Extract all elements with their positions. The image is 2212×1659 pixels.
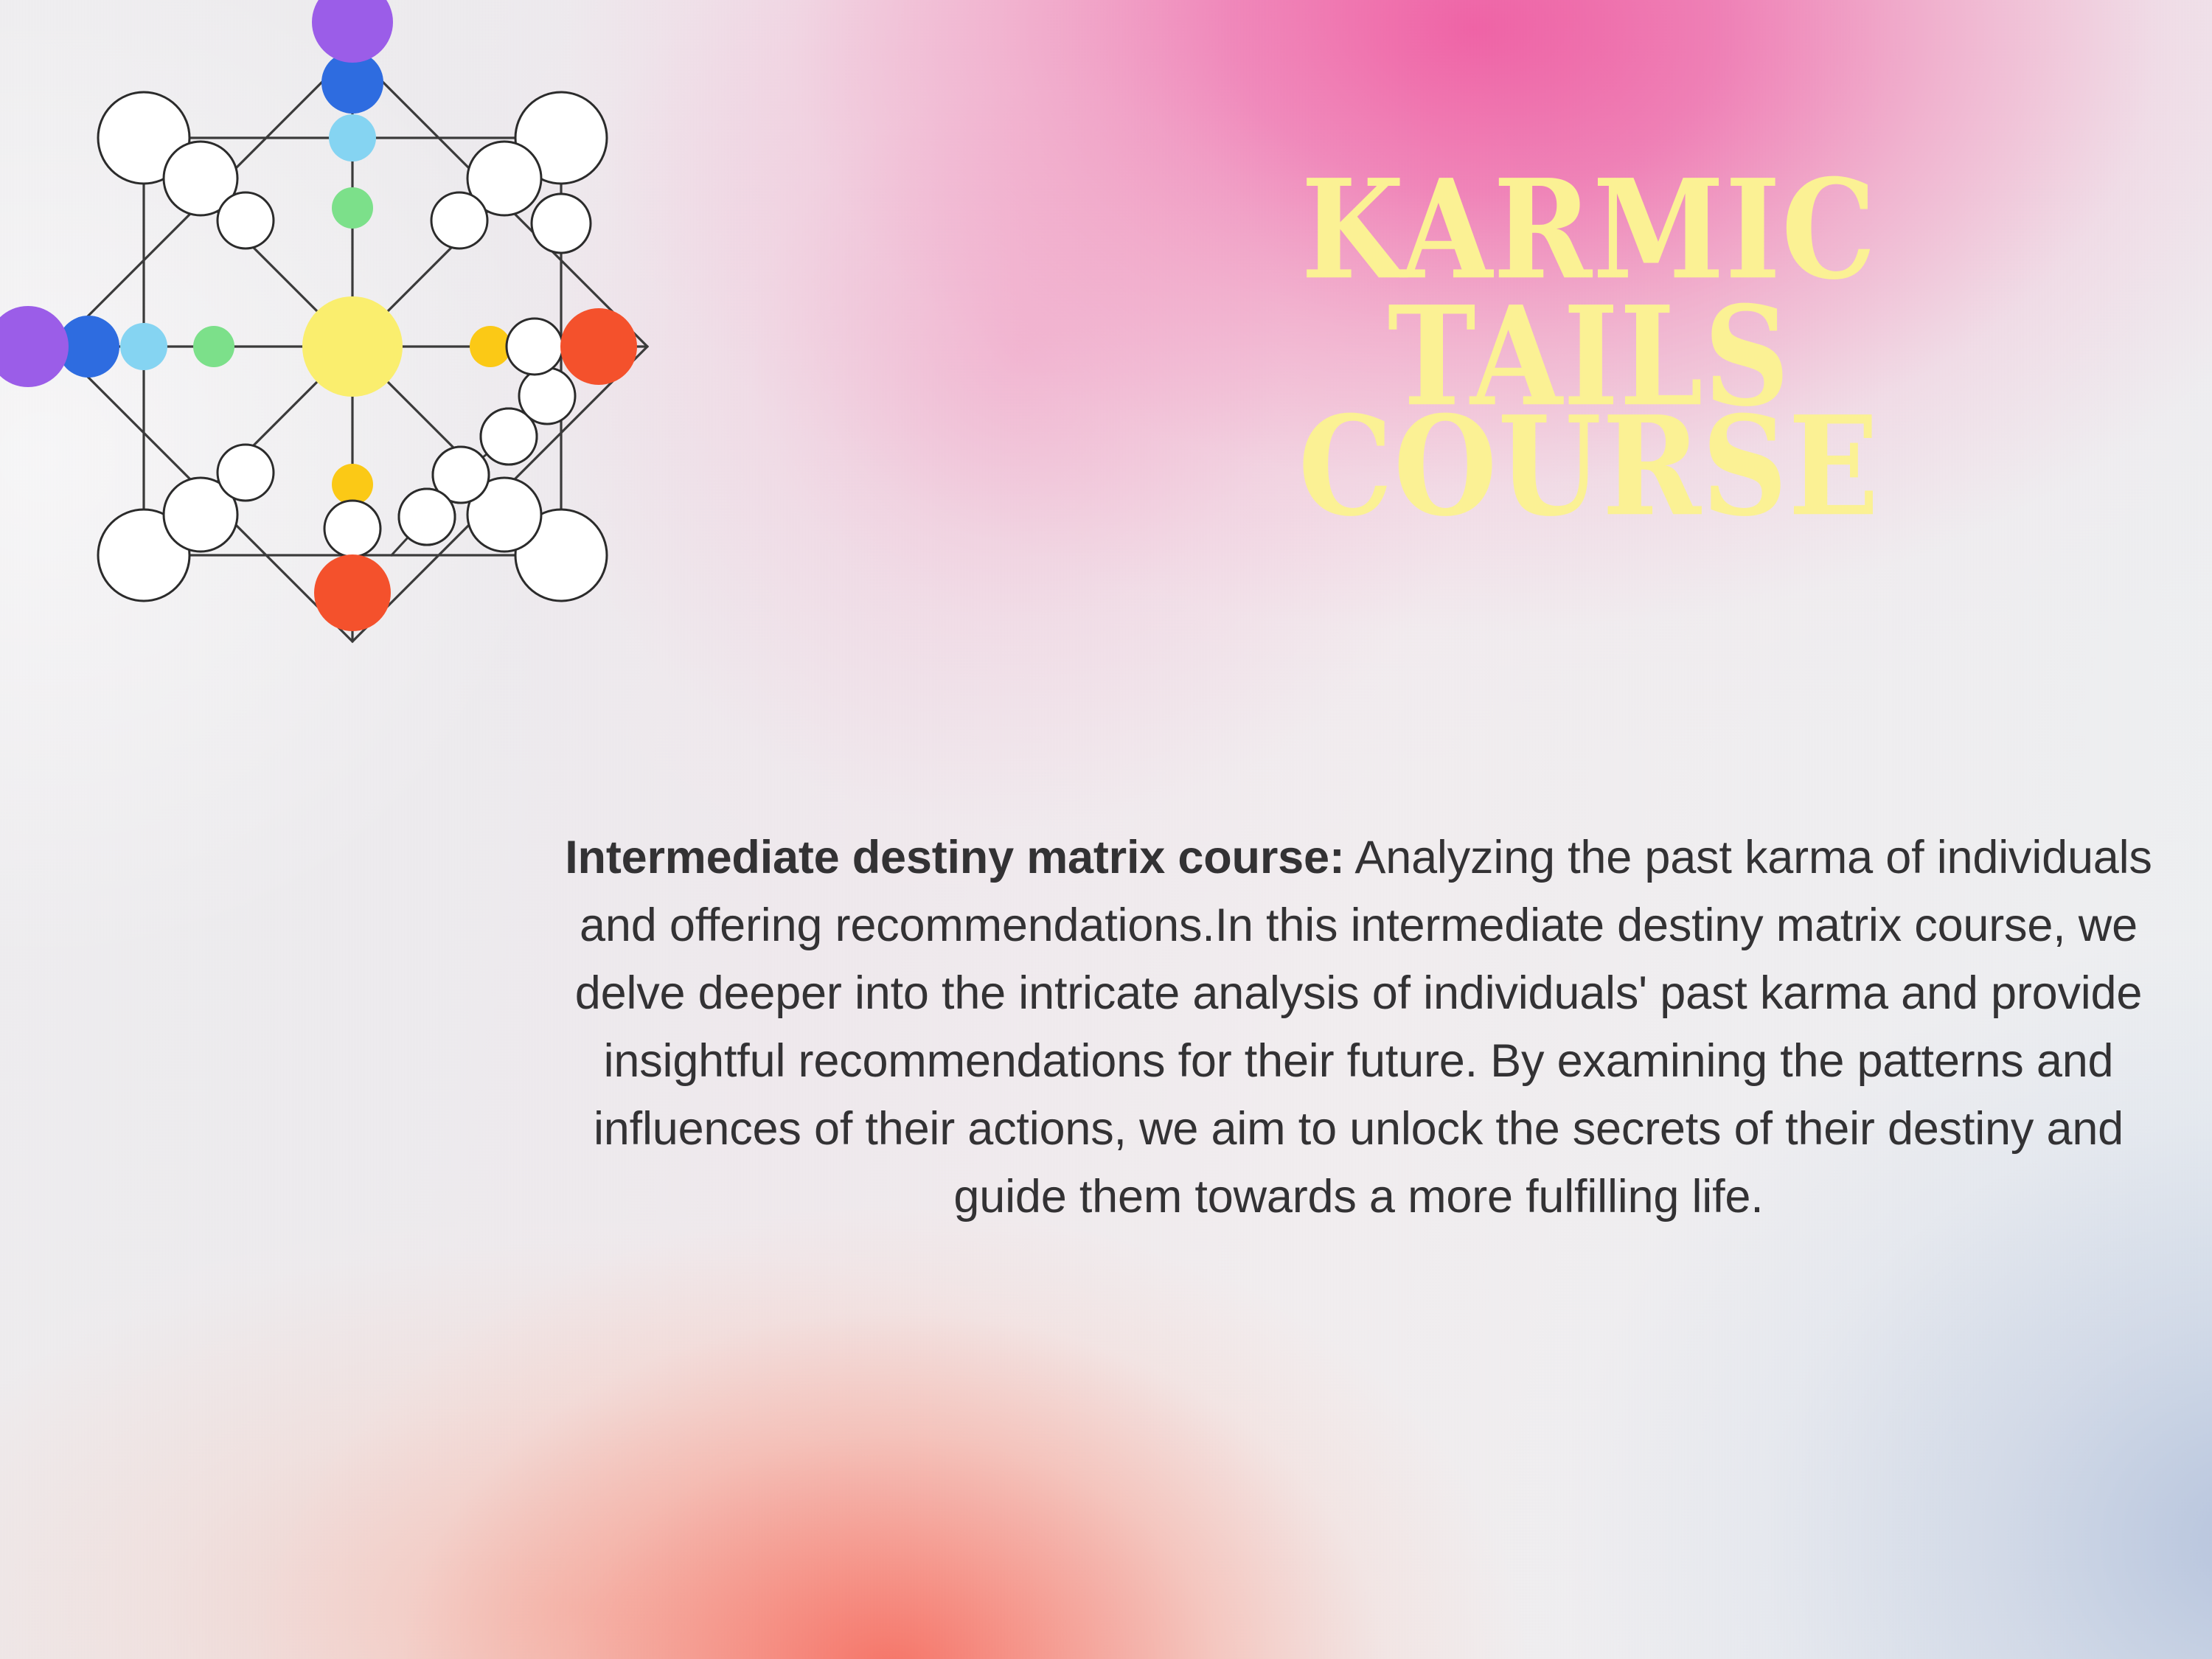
- course-description-lead: Intermediate destiny matrix course:: [565, 832, 1344, 883]
- node-bottom-yellow: [332, 464, 373, 505]
- node-right-yellow: [470, 326, 511, 367]
- title-line-2: Course: [1108, 403, 2070, 529]
- course-description: Intermediate destiny matrix course: Anal…: [542, 824, 2175, 1231]
- node-ne-extra: [532, 194, 591, 253]
- node-se-chain-4b: [399, 489, 455, 545]
- destiny-matrix-diagram: [0, 0, 848, 842]
- poster-title: Karmic Tails Course: [1135, 166, 2042, 507]
- node-bottom-white: [324, 501, 380, 557]
- node-bottom-red: [314, 554, 391, 631]
- node-se-chain-5: [519, 368, 575, 424]
- node-left-lightblue: [120, 323, 167, 370]
- node-right-red: [560, 308, 637, 385]
- node-sw-chain-2: [218, 445, 274, 501]
- node-top-lightblue: [329, 114, 376, 161]
- node-nw-chain-2: [218, 192, 274, 248]
- node-center-yellow: [302, 296, 403, 397]
- node-left-purple: [0, 306, 69, 387]
- node-right-white: [507, 319, 563, 375]
- node-top-green: [332, 187, 373, 229]
- node-ne-chain-2: [431, 192, 487, 248]
- title-line-1: Karmic Tails: [1108, 166, 2070, 420]
- poster-canvas: Karmic Tails Course Intermediate destiny…: [0, 0, 2212, 1659]
- course-description-text: Analyzing the past karma of individuals …: [575, 832, 2152, 1222]
- destiny-matrix-svg: [0, 0, 848, 842]
- node-left-green: [193, 326, 234, 367]
- node-top-purple: [312, 0, 393, 63]
- matrix-nodes-group: [0, 0, 637, 631]
